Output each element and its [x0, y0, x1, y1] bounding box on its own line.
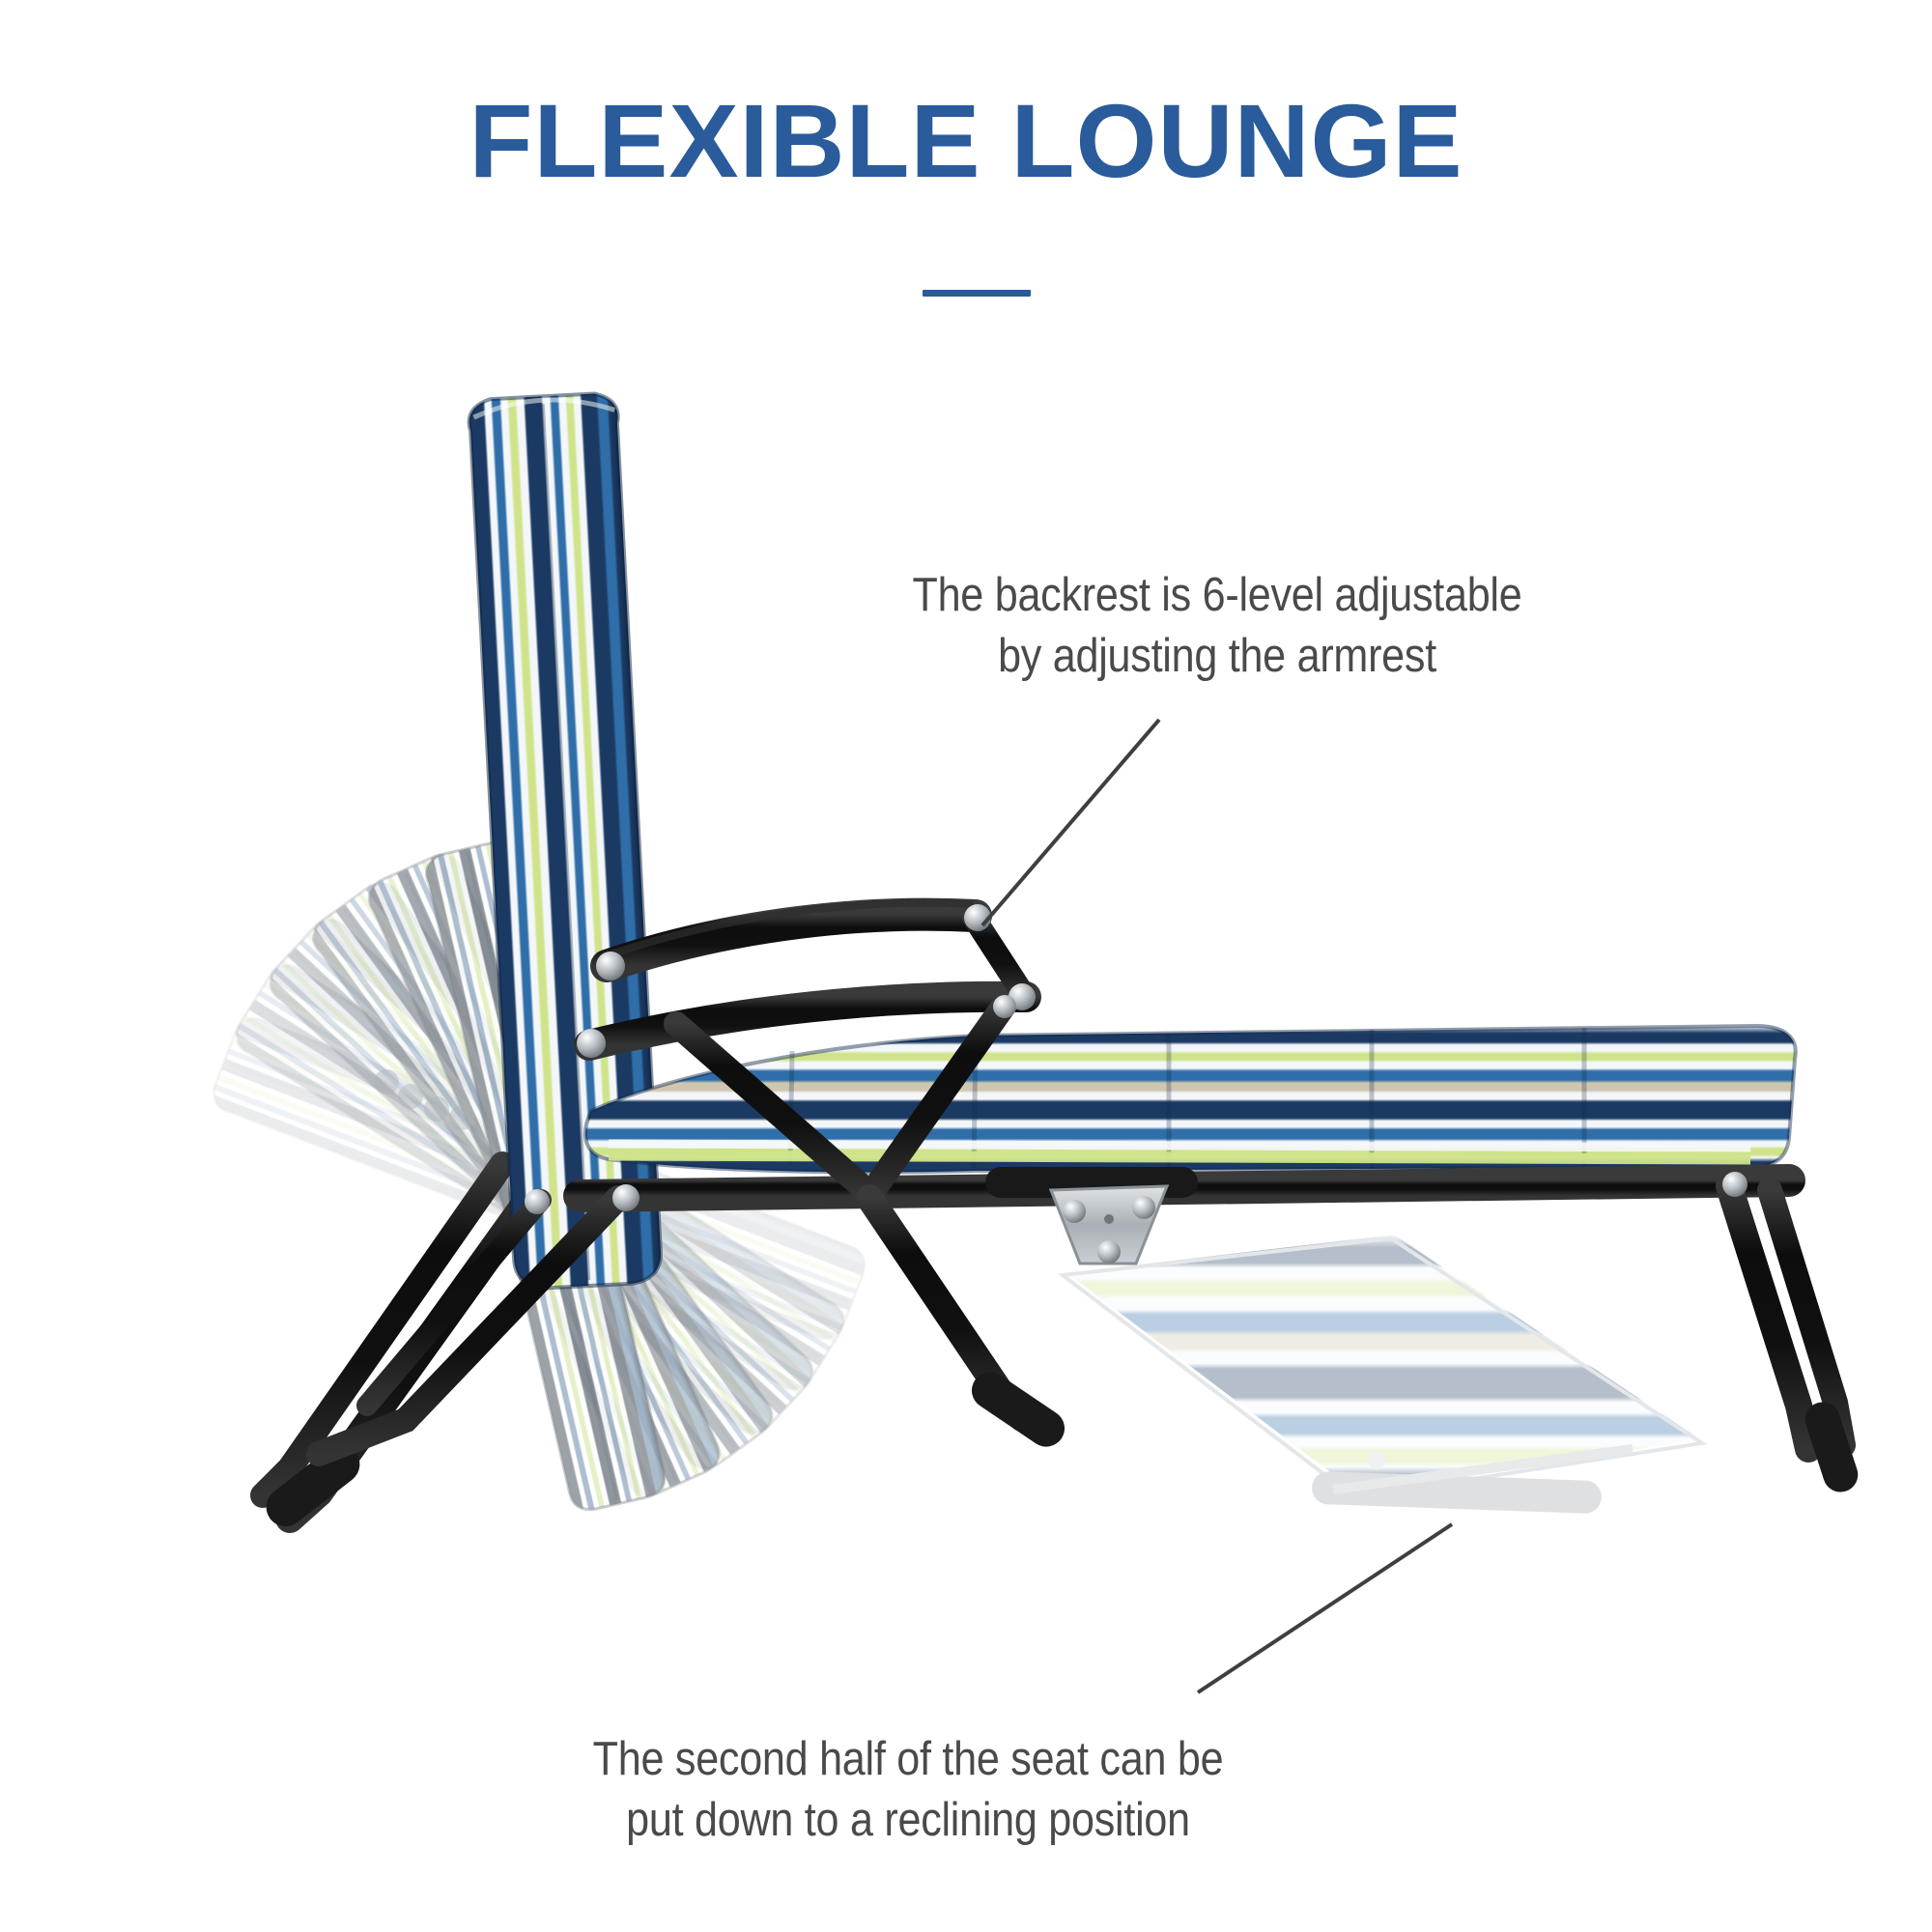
hinge-bracket: [1051, 1186, 1167, 1264]
leader-line-footrest: [1198, 1524, 1452, 1692]
product-illustration: [0, 0, 1932, 1932]
footrest-leg: [1722, 1172, 1862, 1496]
rear-leg: [259, 1164, 537, 1534]
annotation-footrest-line1: The second half of the seat can be: [517, 1729, 1299, 1790]
annotation-footrest-line2: put down to a reclining position: [517, 1790, 1299, 1851]
annotation-backrest-line2: by adjusting the armrest: [895, 626, 1541, 687]
annotation-footrest: The second half of the seat can be put d…: [517, 1729, 1299, 1850]
annotation-backrest: The backrest is 6-level adjustable by ad…: [895, 565, 1541, 686]
leader-line-backrest: [982, 720, 1159, 925]
ghost-footrest-reclined: [1063, 1235, 1702, 1514]
annotation-backrest-line1: The backrest is 6-level adjustable: [895, 565, 1541, 626]
front-leg: [869, 1198, 1071, 1454]
infographic-canvas: FLEXIBLE LOUNGE: [0, 0, 1932, 1932]
